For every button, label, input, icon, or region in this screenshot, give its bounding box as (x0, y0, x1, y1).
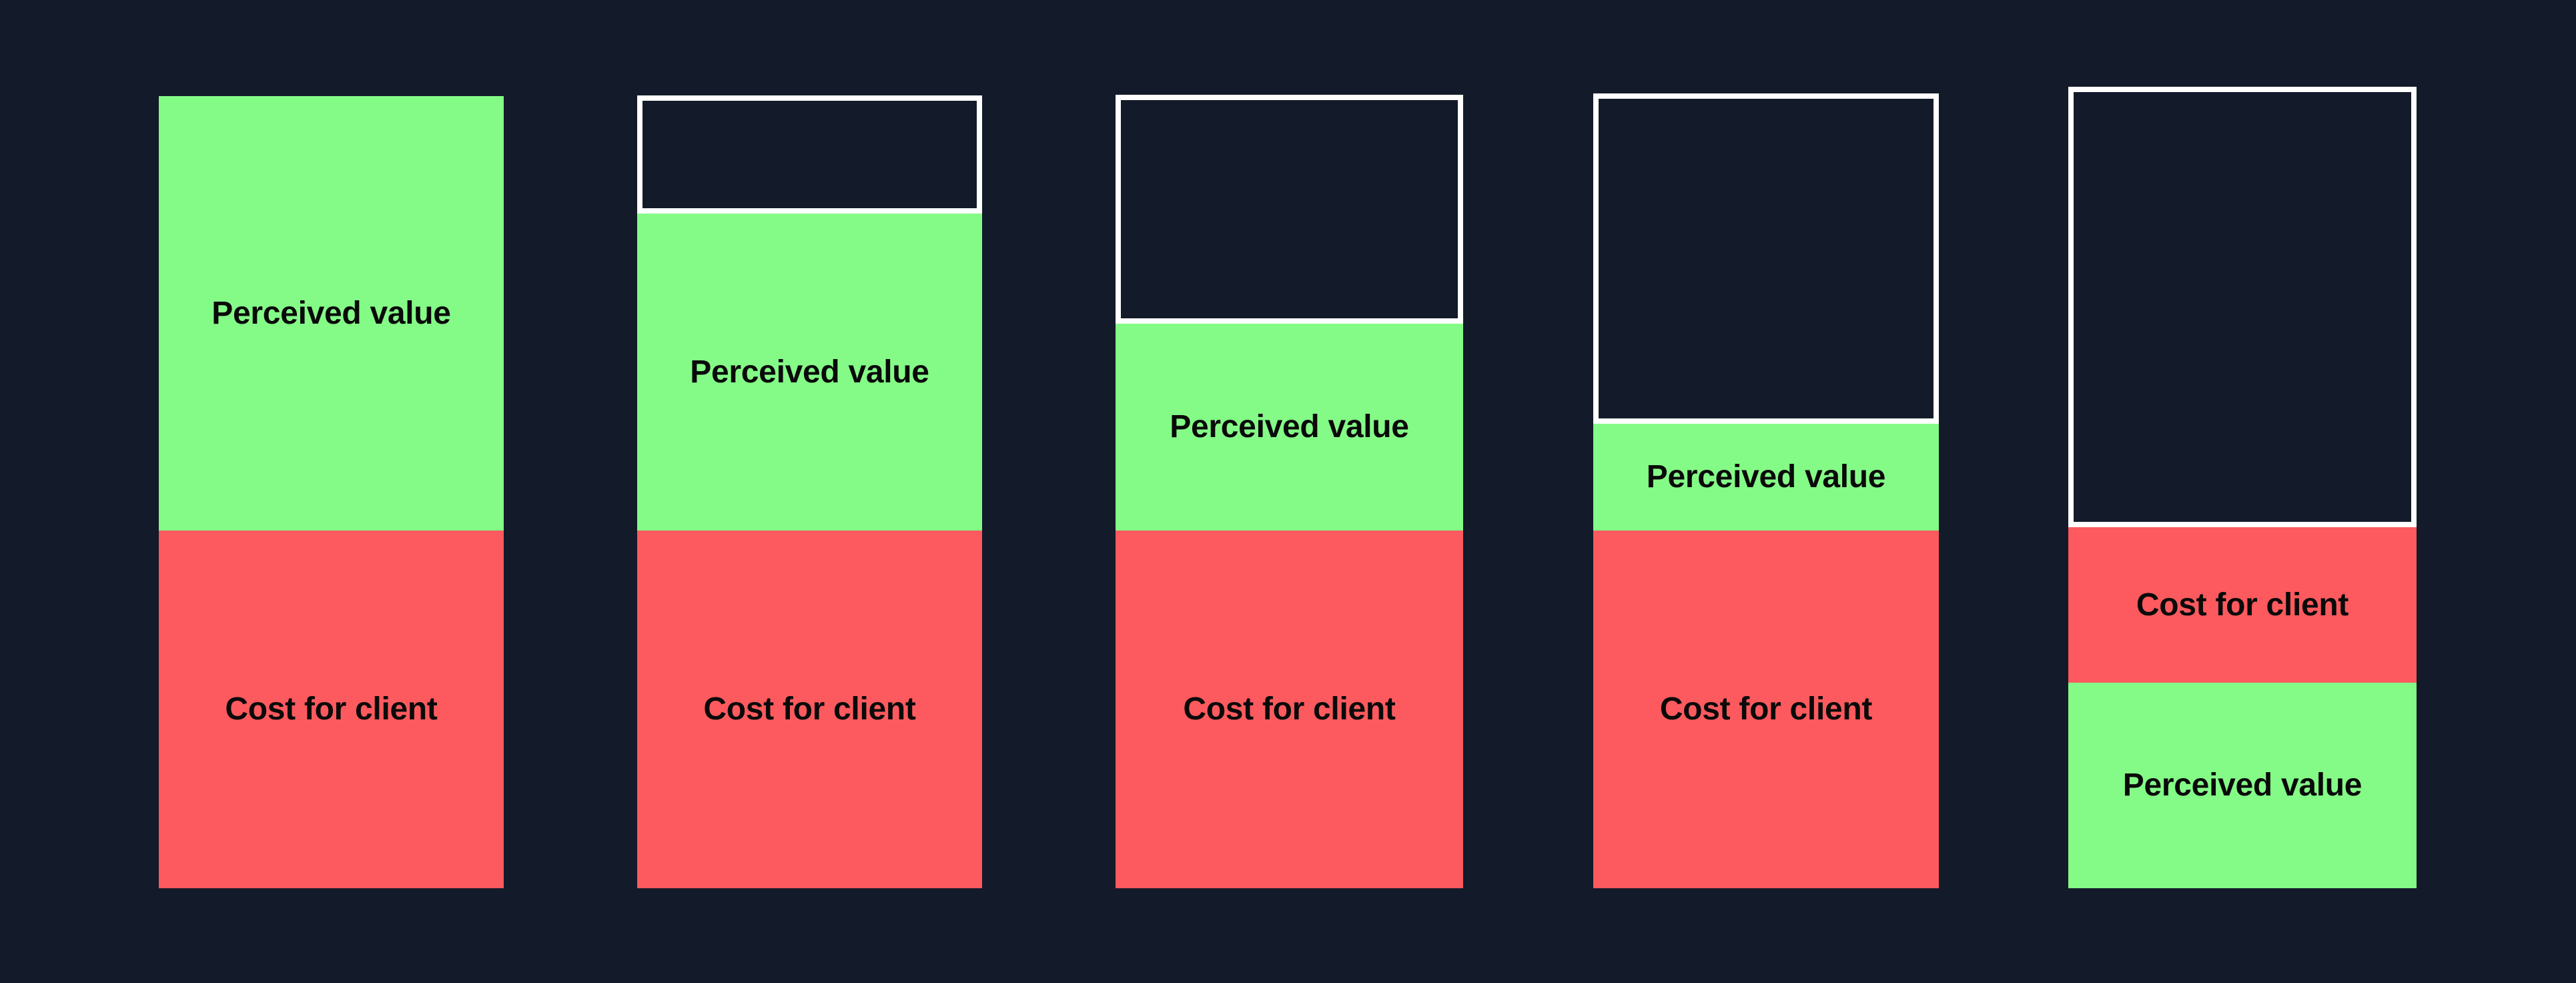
bar-5-perceived-value-segment-label: Perceived value (2123, 769, 2362, 801)
bar-4-perceived-value-segment: Perceived value (1593, 424, 1939, 531)
bar-column-4: Perceived valueCost for client (1593, 93, 1939, 888)
bar-3-perceived-value-segment: Perceived value (1116, 324, 1463, 531)
bar-1-perceived-value-segment-label: Perceived value (211, 298, 450, 330)
bar-column-1: Perceived valueCost for client (159, 96, 504, 888)
bar-2-perceived-value-segment-label: Perceived value (690, 356, 929, 388)
bar-4-empty-outline-segment (1593, 93, 1939, 424)
bar-3-cost-for-client-segment: Cost for client (1116, 531, 1463, 888)
bar-column-5: Cost for clientPerceived value (2068, 87, 2417, 888)
bar-2-cost-for-client-segment: Cost for client (637, 531, 982, 888)
bar-5-perceived-value-segment: Perceived value (2068, 683, 2417, 888)
bar-1-perceived-value-segment: Perceived value (159, 96, 504, 531)
bar-1-cost-for-client-segment-label: Cost for client (225, 693, 437, 725)
bar-column-2: Perceived valueCost for client (637, 95, 982, 888)
bar-2-perceived-value-segment: Perceived value (637, 214, 982, 531)
bar-1-cost-for-client-segment: Cost for client (159, 531, 504, 888)
bar-4-cost-for-client-segment: Cost for client (1593, 531, 1939, 888)
stacked-bar-chart: Perceived valueCost for clientPerceived … (0, 0, 2576, 983)
bar-2-cost-for-client-segment-label: Cost for client (703, 693, 915, 725)
bar-column-3: Perceived valueCost for client (1116, 95, 1463, 888)
bar-3-empty-outline-segment (1116, 95, 1463, 324)
bar-5-empty-outline-segment (2068, 87, 2417, 527)
bar-4-perceived-value-segment-label: Perceived value (1647, 461, 1885, 493)
bar-5-cost-for-client-segment-label: Cost for client (2136, 589, 2348, 621)
bar-3-perceived-value-segment-label: Perceived value (1170, 411, 1408, 443)
bar-5-cost-for-client-segment: Cost for client (2068, 527, 2417, 683)
bar-3-cost-for-client-segment-label: Cost for client (1183, 693, 1395, 725)
bar-4-cost-for-client-segment-label: Cost for client (1660, 693, 1872, 725)
bar-2-empty-outline-segment (637, 95, 982, 214)
